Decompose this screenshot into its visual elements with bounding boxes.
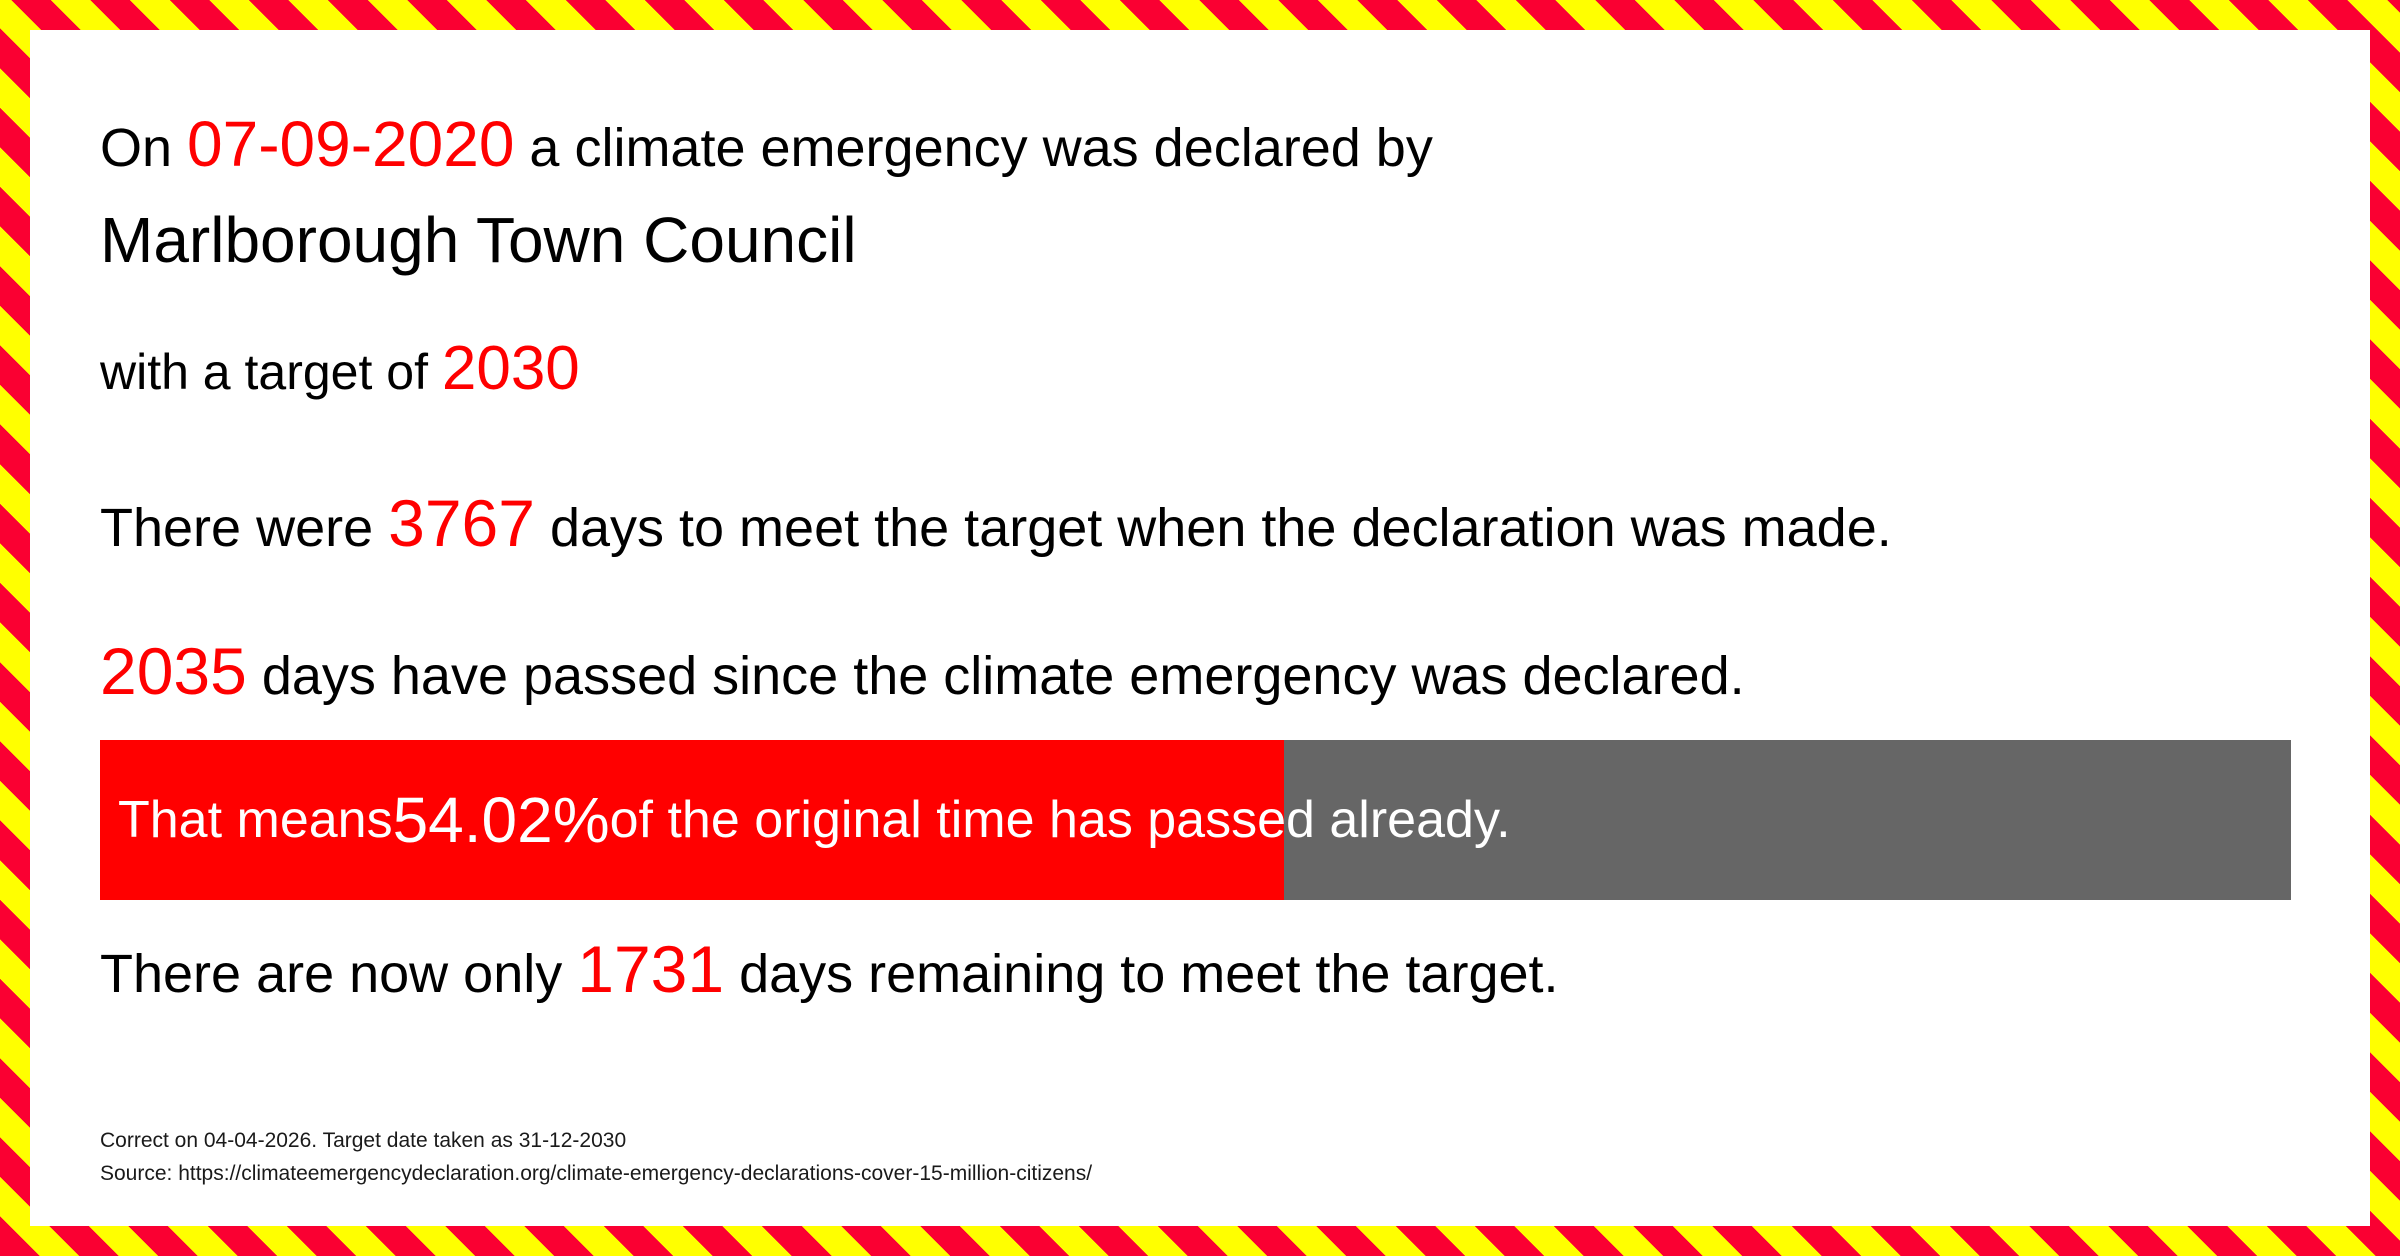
info-card: On 07-09-2020 a climate emergency was de… (30, 30, 2370, 1226)
original-days-prefix-text: There were (100, 498, 388, 558)
declaration-date-value: 07-09-2020 (187, 108, 514, 180)
declaring-authority-name: Marlborough Town Council (100, 204, 857, 276)
declaration-date-line: On 07-09-2020 a climate emergency was de… (100, 112, 1433, 176)
declaration-prefix-text: On (100, 118, 187, 178)
declaration-suffix-text: a climate emergency was declared by (514, 118, 1432, 178)
elapsed-days-suffix-text: days have passed since the climate emerg… (247, 646, 1745, 706)
remaining-days-line: There are now only 1731 days remaining t… (100, 936, 1559, 1002)
target-year-value: 2030 (442, 334, 580, 403)
time-progress-bar: That means 54.02% of the original time h… (100, 740, 2291, 900)
card-content: On 07-09-2020 a climate emergency was de… (100, 30, 2300, 1226)
footer-source-text: Source: https://climateemergencydeclarat… (100, 1158, 1092, 1191)
hazard-stripe-border: On 07-09-2020 a climate emergency was de… (0, 0, 2400, 1256)
footer-correct-on-text: Correct on 04-04-2026. Target date taken… (100, 1125, 1092, 1158)
remaining-days-suffix-text: days remaining to meet the target. (724, 944, 1558, 1004)
progress-suffix-text: of the original time has passed already. (610, 794, 1511, 846)
target-prefix-text: with a target of (100, 344, 442, 400)
target-year-line: with a target of 2030 (100, 338, 580, 400)
elapsed-days-value: 2035 (100, 634, 247, 708)
progress-percent-value: 54.02% (393, 788, 610, 852)
remaining-days-value: 1731 (577, 932, 724, 1006)
progress-prefix-text: That means (118, 794, 393, 846)
original-days-line: There were 3767 days to meet the target … (100, 490, 1892, 556)
footer-notes: Correct on 04-04-2026. Target date taken… (100, 1125, 1092, 1190)
original-days-suffix-text: days to meet the target when the declara… (535, 498, 1892, 558)
remaining-days-prefix-text: There are now only (100, 944, 577, 1004)
original-days-value: 3767 (388, 486, 535, 560)
declaring-authority-line: Marlborough Town Council (100, 208, 857, 272)
time-progress-label: That means 54.02% of the original time h… (118, 740, 1511, 900)
elapsed-days-line: 2035 days have passed since the climate … (100, 638, 1745, 704)
